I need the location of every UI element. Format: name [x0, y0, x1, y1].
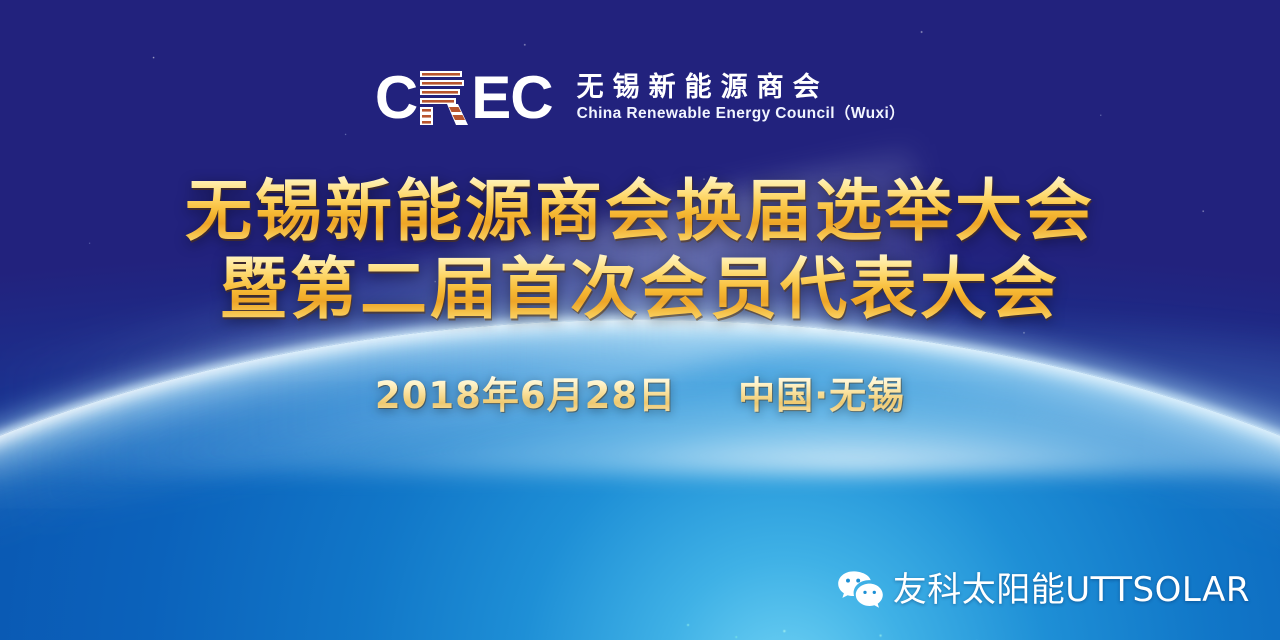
logo-english-name: China Renewable Energy Council（Wuxi） [577, 106, 905, 122]
headline-line-1: 无锡新能源商会换届选举大会 [0, 172, 1280, 250]
event-meta: 2018年6月28日 中国·无锡 [0, 374, 1280, 418]
event-date: 2018年6月28日 [375, 374, 676, 418]
conference-banner: C [0, 0, 1280, 640]
solar-panel-r-icon [418, 69, 470, 127]
wechat-watermark: 友科太阳能UTTSOLAR [837, 570, 1250, 610]
event-location: 中国·无锡 [738, 374, 905, 418]
wordmark-letter-e: E [471, 68, 510, 128]
logo-name-block: 无锡新能源商会 China Renewable Energy Council（W… [577, 74, 905, 122]
crec-logo: C [0, 68, 1280, 128]
headline-line-2: 暨第二届首次会员代表大会 [0, 250, 1280, 328]
headline-block: 无锡新能源商会换届选举大会 暨第二届首次会员代表大会 [0, 172, 1280, 328]
wechat-icon [837, 570, 883, 610]
wordmark-letter-c2: C [510, 68, 552, 128]
wechat-account-name: 友科太阳能UTTSOLAR [893, 570, 1250, 610]
wordmark-letter-c1: C [375, 68, 417, 128]
logo-chinese-name: 无锡新能源商会 [577, 74, 905, 102]
crec-wordmark: C [375, 68, 553, 128]
